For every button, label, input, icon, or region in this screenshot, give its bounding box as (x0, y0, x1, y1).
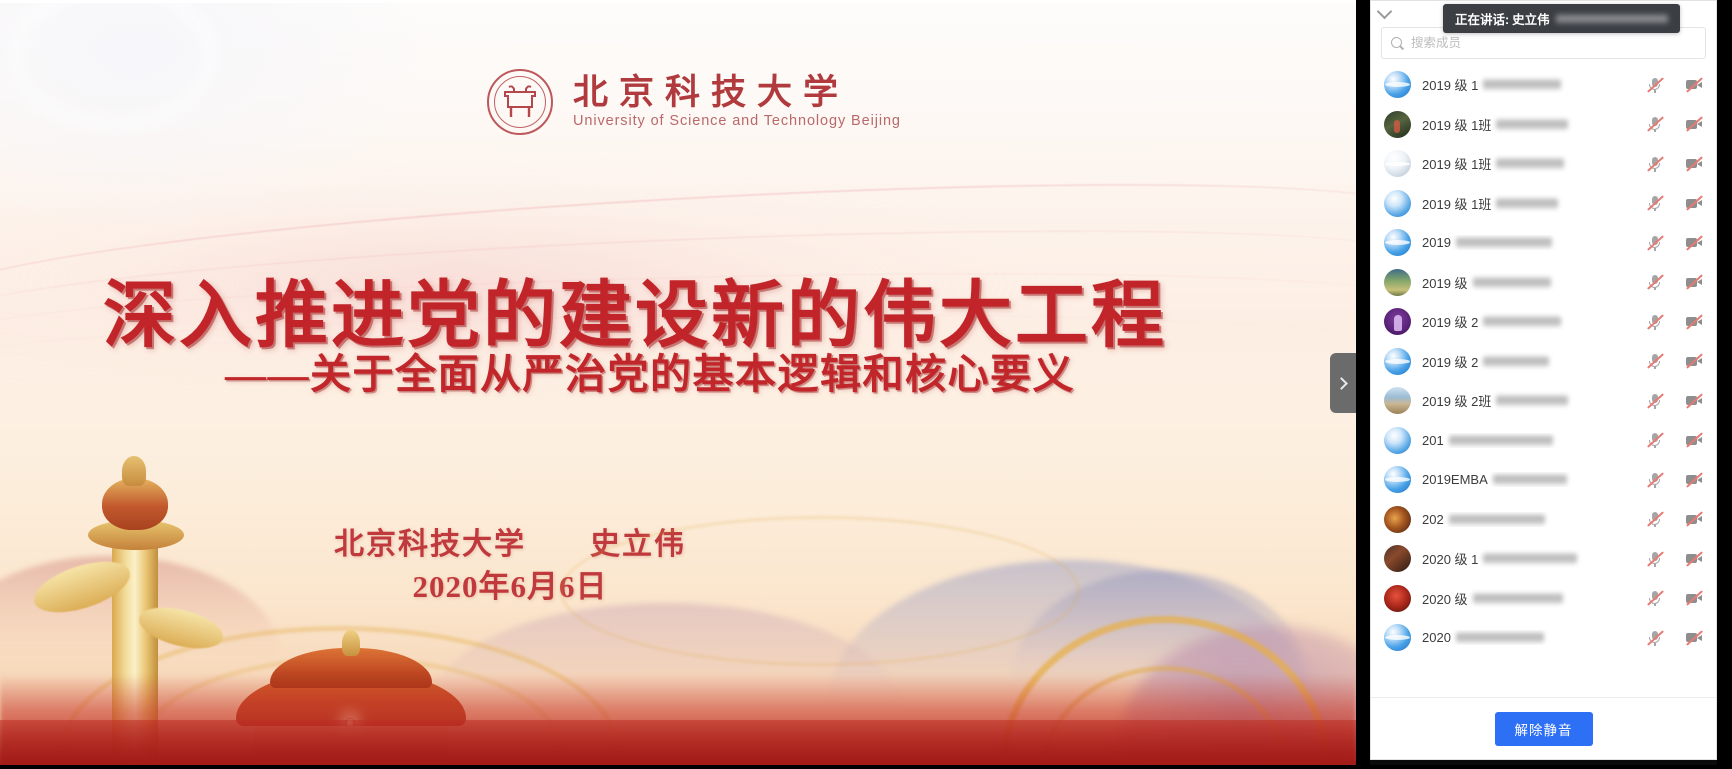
mic-muted-icon[interactable] (1646, 432, 1663, 449)
participant-name-redacted (1473, 593, 1563, 604)
mic-muted-icon[interactable] (1646, 471, 1663, 488)
participant-controls (1646, 313, 1702, 330)
participant-controls (1646, 116, 1702, 133)
participant-name-redacted (1449, 435, 1553, 446)
search-input[interactable] (1411, 36, 1696, 50)
avatar (1384, 545, 1411, 572)
participant-name-redacted (1496, 395, 1568, 406)
mic-muted-icon[interactable] (1646, 353, 1663, 370)
avatar (1384, 466, 1411, 493)
participant-name-redacted (1496, 198, 1558, 209)
mic-muted-icon[interactable] (1646, 76, 1663, 93)
participant-row[interactable]: 2019 级 2班 (1371, 381, 1716, 421)
avatar (1384, 190, 1411, 217)
university-logo: 北京科技大学 University of Science and Technol… (487, 69, 901, 135)
camera-off-icon[interactable] (1685, 353, 1702, 370)
mic-muted-icon[interactable] (1646, 629, 1663, 646)
avatar (1384, 71, 1411, 98)
participant-row[interactable]: 2019 级 1班 (1371, 184, 1716, 224)
avatar (1384, 308, 1411, 335)
participant-name-text: 2020 (1422, 630, 1451, 645)
participant-name-redacted (1483, 356, 1549, 367)
participant-name-redacted (1473, 277, 1551, 288)
participant-controls (1646, 629, 1702, 646)
camera-off-icon[interactable] (1685, 76, 1702, 93)
participant-name-text: 2019 级 1班 (1422, 194, 1491, 213)
participant-name: 2019EMBA (1422, 472, 1635, 487)
avatar (1384, 269, 1411, 296)
participant-name: 2019 级 2 (1422, 312, 1635, 331)
mic-muted-icon[interactable] (1646, 511, 1663, 528)
meeting-screen: 北京科技大学 University of Science and Technol… (0, 0, 1732, 769)
camera-off-icon[interactable] (1685, 471, 1702, 488)
participant-name-redacted (1483, 79, 1561, 90)
camera-off-icon[interactable] (1685, 116, 1702, 133)
avatar (1384, 111, 1411, 138)
avatar (1384, 348, 1411, 375)
participant-name: 201 (1422, 433, 1635, 448)
slide-illustration (0, 436, 1356, 766)
camera-off-icon[interactable] (1685, 195, 1702, 212)
camera-off-icon[interactable] (1685, 234, 1702, 251)
participant-name-text: 2019 级 (1422, 273, 1468, 292)
chevron-down-icon[interactable] (1377, 4, 1393, 20)
mic-muted-icon[interactable] (1646, 313, 1663, 330)
participant-name: 202 (1422, 512, 1635, 527)
participant-controls (1646, 353, 1702, 370)
participant-controls (1646, 76, 1702, 93)
ding-vessel-icon (502, 85, 538, 119)
mic-muted-icon[interactable] (1646, 590, 1663, 607)
participant-name-redacted (1456, 632, 1544, 643)
participant-row[interactable]: 201 (1371, 421, 1716, 461)
participant-name: 2019 级 1班 (1422, 154, 1635, 173)
speaking-indicator-tooltip: 正在讲话: 史立伟 (1443, 4, 1680, 33)
participant-row[interactable]: 2020 级 (1371, 579, 1716, 619)
participant-name-text: 2019 级 1班 (1422, 154, 1491, 173)
presentation-slide: 北京科技大学 University of Science and Technol… (0, 3, 1356, 766)
participant-row[interactable]: 2019 (1371, 223, 1716, 263)
participants-panel: 2019 级 12019 级 1班2019 级 1班2019 级 1班20192… (1370, 0, 1717, 760)
participant-name-text: 2020 级 (1422, 589, 1468, 608)
avatar (1384, 150, 1411, 177)
participant-name-redacted (1496, 158, 1564, 169)
chevron-right-icon (1335, 377, 1348, 390)
participant-name: 2019 级 2班 (1422, 391, 1635, 410)
participant-controls (1646, 234, 1702, 251)
shared-screen-area: 北京科技大学 University of Science and Technol… (0, 0, 1356, 769)
camera-off-icon[interactable] (1685, 550, 1702, 567)
mic-muted-icon[interactable] (1646, 195, 1663, 212)
camera-off-icon[interactable] (1685, 590, 1702, 607)
mic-muted-icon[interactable] (1646, 550, 1663, 567)
participant-row[interactable]: 2019 级 1 (1371, 65, 1716, 105)
participant-controls (1646, 471, 1702, 488)
participant-name: 2020 级 (1422, 589, 1635, 608)
camera-off-icon[interactable] (1685, 274, 1702, 291)
participant-controls (1646, 432, 1702, 449)
speaking-prefix: 正在讲话: (1455, 9, 1509, 28)
participant-controls (1646, 550, 1702, 567)
participant-name-redacted (1456, 237, 1552, 248)
collapse-panel-handle[interactable] (1330, 353, 1356, 413)
participant-name-text: 2019 级 2 (1422, 312, 1478, 331)
right-edge-gutter (1717, 0, 1732, 769)
avatar (1384, 624, 1411, 651)
screen-gap (1356, 0, 1370, 769)
participant-row[interactable]: 2019 级 1班 (1371, 144, 1716, 184)
participant-name-redacted (1496, 119, 1568, 130)
participant-name-text: 2019 (1422, 235, 1451, 250)
avatar (1384, 585, 1411, 612)
participant-row[interactable]: 202 (1371, 500, 1716, 540)
speaking-name: 史立伟 (1512, 9, 1550, 28)
participant-controls (1646, 195, 1702, 212)
participant-row[interactable]: 2020 级 1 (1371, 539, 1716, 579)
avatar (1384, 427, 1411, 454)
avatar (1384, 229, 1411, 256)
logo-english-name: University of Science and Technology Bei… (573, 113, 901, 129)
participant-controls (1646, 274, 1702, 291)
participant-controls (1646, 511, 1702, 528)
mic-muted-icon[interactable] (1646, 234, 1663, 251)
participant-name: 2019 级 (1422, 273, 1635, 292)
participant-name-text: 2019 级 2 (1422, 352, 1478, 371)
participant-row[interactable]: 2019 级 2 (1371, 342, 1716, 382)
panel-footer: 解除静音 (1371, 697, 1716, 759)
bottom-edge-gutter (0, 765, 1732, 769)
camera-off-icon[interactable] (1685, 432, 1702, 449)
decorative-ring (8, 3, 218, 131)
participant-name: 2019 级 1班 (1422, 194, 1635, 213)
camera-off-icon[interactable] (1685, 392, 1702, 409)
mic-muted-icon[interactable] (1646, 116, 1663, 133)
slide-subtitle: ——关于全面从严治党的基本逻辑和核心要义 (0, 340, 1300, 400)
participant-name: 2019 级 2 (1422, 352, 1635, 371)
participant-name-text: 2019 级 1班 (1422, 115, 1491, 134)
participant-name: 2019 级 1 (1422, 75, 1635, 94)
participant-row[interactable]: 2019 级 2 (1371, 302, 1716, 342)
participant-controls (1646, 590, 1702, 607)
camera-off-icon[interactable] (1685, 155, 1702, 172)
camera-off-icon[interactable] (1685, 629, 1702, 646)
participant-name-text: 2019EMBA (1422, 472, 1488, 487)
logo-chinese-name: 北京科技大学 (573, 75, 901, 112)
avatar (1384, 387, 1411, 414)
participant-name: 2019 级 1班 (1422, 115, 1635, 134)
mic-muted-icon[interactable] (1646, 274, 1663, 291)
avatar (1384, 506, 1411, 533)
participant-name-text: 202 (1422, 512, 1444, 527)
participant-name-redacted (1483, 553, 1577, 564)
participant-name-text: 2019 级 2班 (1422, 391, 1491, 410)
mic-muted-icon[interactable] (1646, 155, 1663, 172)
camera-off-icon[interactable] (1685, 511, 1702, 528)
participant-name-redacted (1449, 514, 1545, 525)
search-icon (1391, 37, 1404, 50)
participant-name-text: 2020 级 1 (1422, 549, 1478, 568)
participant-name: 2020 (1422, 630, 1635, 645)
participant-row[interactable]: 2019EMBA (1371, 460, 1716, 500)
participant-controls (1646, 155, 1702, 172)
participant-list[interactable]: 2019 级 12019 级 1班2019 级 1班2019 级 1班20192… (1371, 63, 1716, 697)
participant-name: 2019 (1422, 235, 1635, 250)
participant-name-text: 2019 级 1 (1422, 75, 1478, 94)
unmute-button[interactable]: 解除静音 (1495, 712, 1593, 746)
participant-name-text: 201 (1422, 433, 1444, 448)
participant-name-redacted (1483, 316, 1561, 327)
participant-name-redacted (1493, 474, 1567, 485)
speaking-name-redacted (1556, 14, 1668, 24)
participant-row[interactable]: 2020 (1371, 618, 1716, 658)
participant-controls (1646, 392, 1702, 409)
participant-name: 2020 级 1 (1422, 549, 1635, 568)
participant-row[interactable]: 2019 级 (1371, 263, 1716, 303)
ding-emblem-icon (487, 69, 553, 135)
participant-row[interactable]: 2019 级 1班 (1371, 105, 1716, 145)
camera-off-icon[interactable] (1685, 313, 1702, 330)
mic-muted-icon[interactable] (1646, 392, 1663, 409)
